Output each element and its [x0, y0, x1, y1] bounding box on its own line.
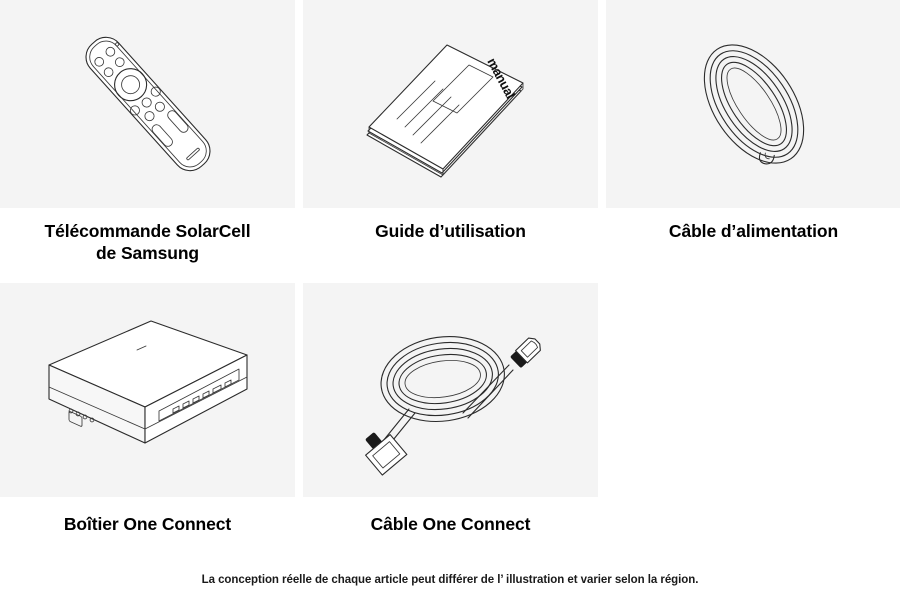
accessory-label-one-connect-box: Boîtier One Connect: [0, 497, 295, 543]
accessory-label-power-cable: Câble d’alimentation: [606, 208, 900, 274]
accessory-row-2: Boîtier One Connect: [0, 283, 900, 543]
accessory-row-1: Télécommande SolarCell de Samsung: [0, 0, 900, 274]
accessory-image-one-connect-box: [0, 283, 295, 497]
accessories-gallery: Télécommande SolarCell de Samsung: [0, 0, 900, 600]
user-manual-icon: manual: [351, 19, 551, 189]
one-connect-box-icon: [33, 303, 263, 478]
disclaimer-text: La conception réelle de chaque article p…: [0, 574, 900, 586]
accessory-label-line1: Câble d’alimentation: [669, 221, 838, 241]
accessory-label-line2: de Samsung: [96, 243, 199, 263]
accessory-label-remote: Télécommande SolarCell de Samsung: [0, 208, 295, 274]
accessory-item-power-cable[interactable]: Câble d’alimentation: [606, 0, 900, 274]
accessory-item-remote[interactable]: Télécommande SolarCell de Samsung: [0, 0, 295, 274]
accessory-label-line1: Télécommande SolarCell: [45, 221, 251, 241]
accessory-label-line1: Boîtier One Connect: [64, 514, 231, 534]
accessory-label-one-connect-cable: Câble One Connect: [303, 497, 598, 543]
accessory-image-one-connect-cable: [303, 283, 598, 497]
tv-remote-icon: [33, 12, 263, 197]
accessory-image-remote: [0, 0, 295, 208]
accessory-item-manual[interactable]: manual Guide d’utilisation: [303, 0, 598, 274]
power-cable-coil-icon: [654, 19, 854, 189]
one-connect-cable-icon: [343, 303, 558, 478]
accessory-image-manual: manual: [303, 0, 598, 208]
accessory-item-one-connect-cable[interactable]: Câble One Connect: [303, 283, 598, 543]
accessory-item-one-connect-box[interactable]: Boîtier One Connect: [0, 283, 295, 543]
accessory-label-line1: Guide d’utilisation: [375, 221, 526, 241]
accessory-image-power-cable: [606, 0, 900, 208]
accessory-label-manual: Guide d’utilisation: [303, 208, 598, 274]
accessory-label-line1: Câble One Connect: [371, 514, 531, 534]
